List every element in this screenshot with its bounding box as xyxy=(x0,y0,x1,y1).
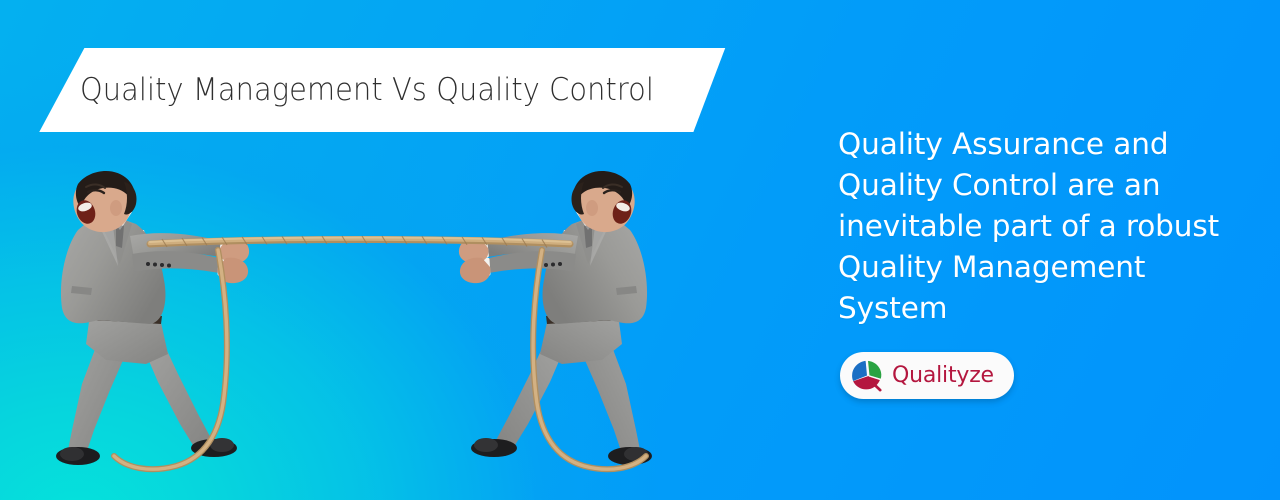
slack-rope-left xyxy=(100,250,330,500)
quality-banner: Quality Management Vs Quality Control Qu… xyxy=(0,0,1280,500)
title-plate: Quality Management Vs Quality Control xyxy=(20,48,760,132)
page-title: Quality Management Vs Quality Control xyxy=(80,48,654,132)
headline-text: Quality Assurance and Quality Control ar… xyxy=(838,124,1258,329)
qualityze-magnifier-logo-icon xyxy=(850,359,884,393)
qualityze-wordmark: Qualityze xyxy=(892,363,994,388)
qualityze-logo-badge[interactable]: Qualityze xyxy=(840,352,1014,399)
slack-rope-right xyxy=(430,250,660,500)
